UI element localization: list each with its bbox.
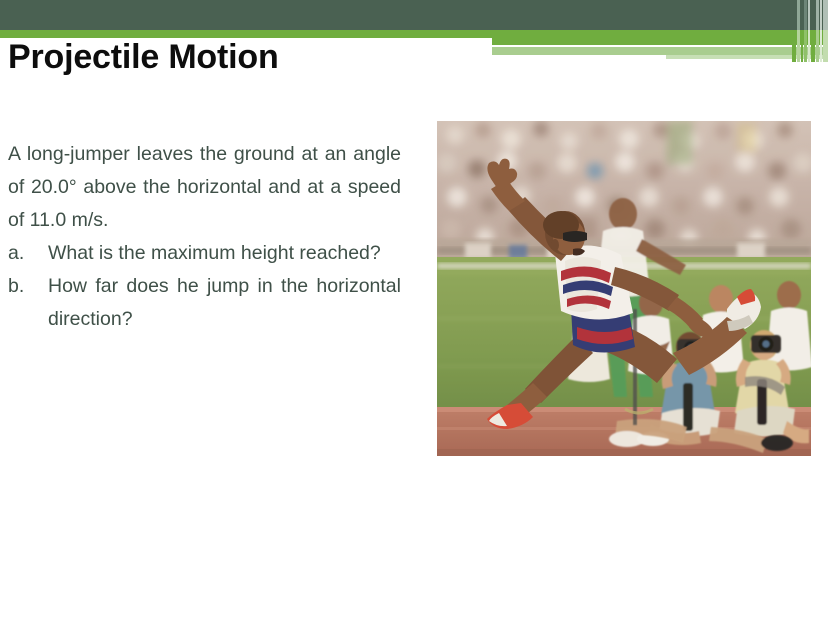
header-stripe	[801, 0, 803, 30]
header-vertical-stripes	[792, 0, 828, 62]
question-list: a. What is the maximum height reached? b…	[8, 237, 401, 336]
page-title: Projectile Motion	[8, 38, 279, 77]
long-jumper-illustration	[437, 121, 811, 456]
header-stripe	[816, 0, 819, 30]
header-stripe-lower	[804, 30, 807, 62]
header-stripe-lower	[816, 30, 819, 62]
list-item-marker: a.	[8, 237, 48, 270]
header-stripe-lower	[801, 30, 803, 62]
header-stripe-lower	[820, 30, 822, 62]
header-stripe-lower	[808, 30, 810, 62]
list-item-marker: b.	[8, 270, 48, 303]
header-stripe-lower	[811, 30, 815, 62]
header-stripe	[811, 0, 815, 30]
long-jumper-photograph	[437, 121, 811, 456]
header-stripe-lower	[823, 30, 828, 62]
header-dark-band	[0, 0, 828, 30]
header-stripe	[808, 0, 810, 30]
header-white-slit	[500, 45, 762, 47]
header-stripe	[823, 0, 828, 30]
problem-statement: A long-jumper leaves the ground at an an…	[8, 138, 401, 237]
header-stripe	[797, 0, 800, 30]
list-item-label: What is the maximum height reached?	[48, 237, 401, 270]
header-green-extension	[492, 38, 828, 45]
header-pale-band-upper	[492, 47, 828, 55]
list-item: a. What is the maximum height reached?	[8, 237, 401, 270]
header-stripe	[820, 0, 822, 30]
header-stripe	[792, 0, 796, 30]
body-content: A long-jumper leaves the ground at an an…	[8, 138, 401, 336]
header-stripe	[804, 0, 807, 30]
list-item-label: How far does he jump in the horizontal d…	[48, 270, 401, 336]
header-stripe-lower	[797, 30, 800, 62]
header-stripe-lower	[792, 30, 796, 62]
list-item: b. How far does he jump in the horizonta…	[8, 270, 401, 336]
